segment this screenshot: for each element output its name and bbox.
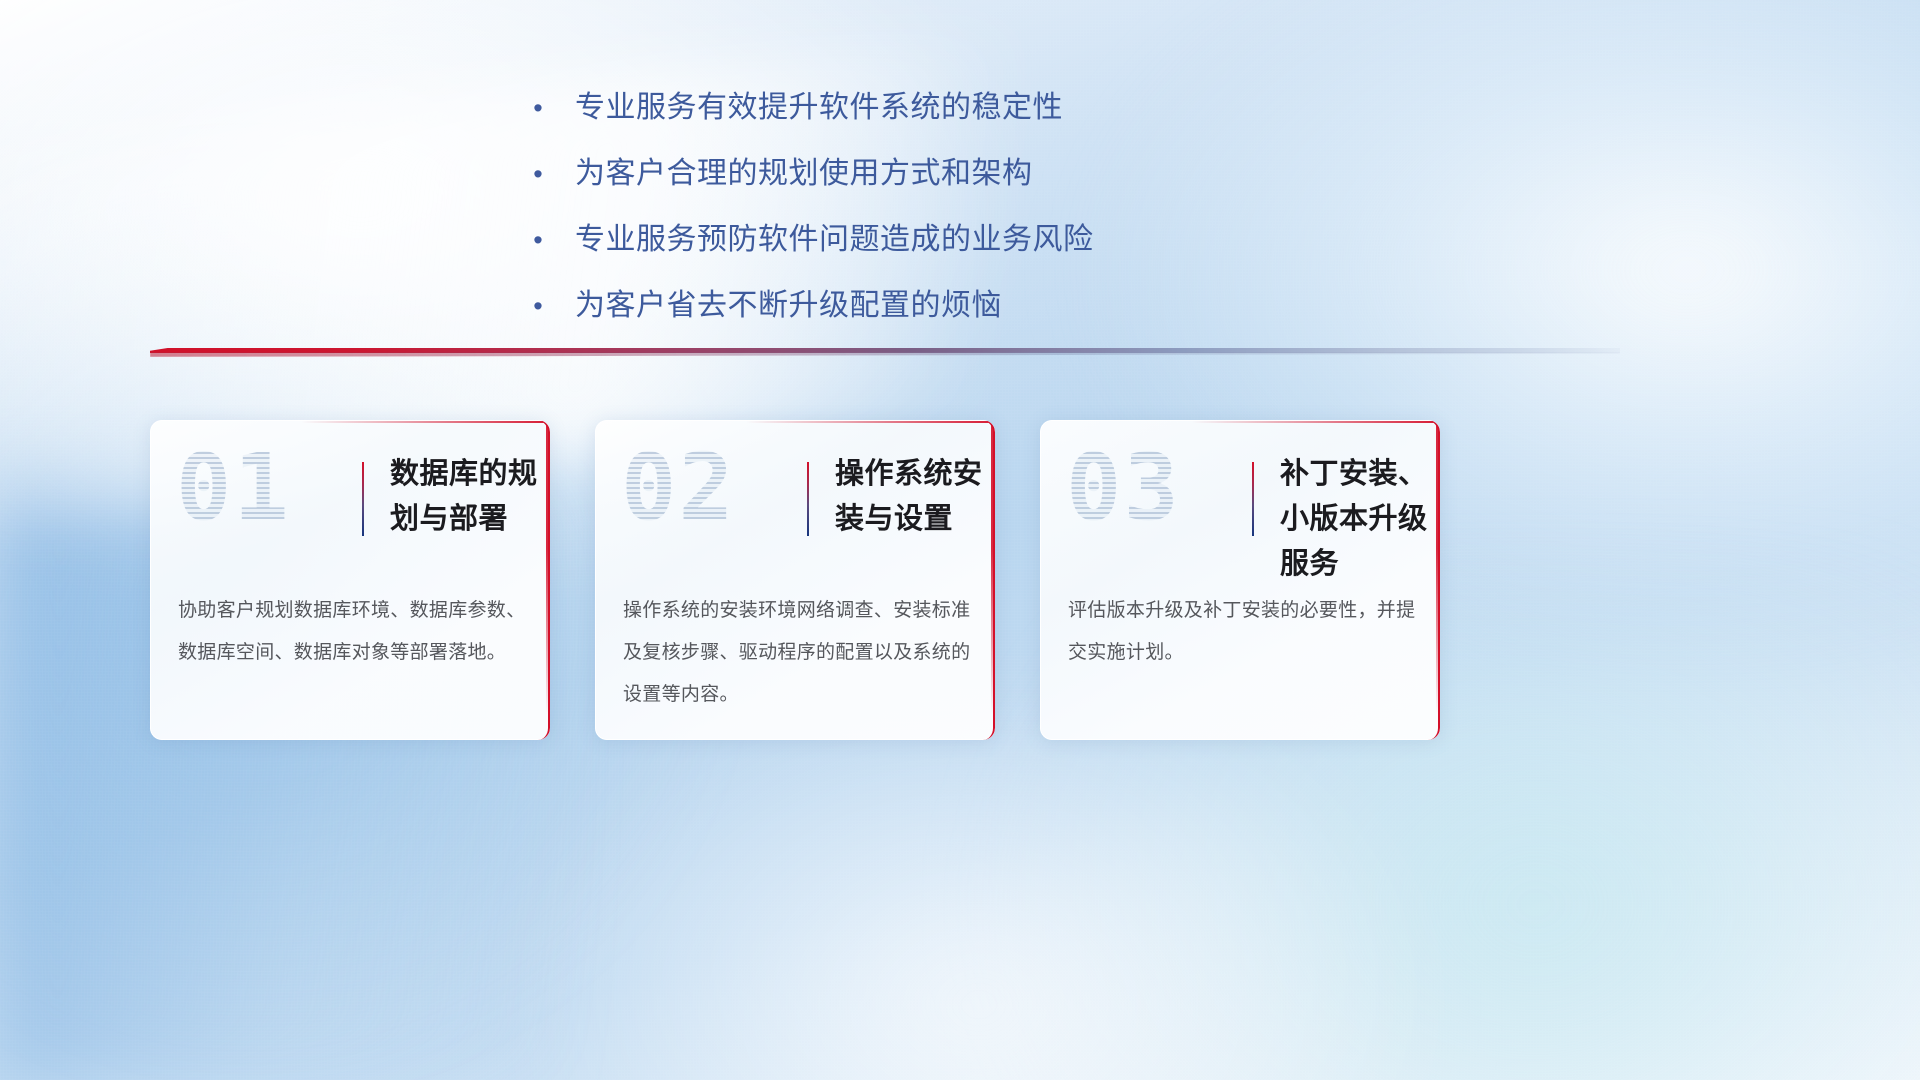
card-title: 操作系统安装与设置 (835, 452, 985, 542)
card-description: 操作系统的安装环境网络调查、安装标准及复核步骤、驱动程序的配置以及系统的设置等内… (623, 590, 971, 716)
list-item: • 为客户合理的规划使用方式和架构 (533, 152, 1293, 196)
card-title: 数据库的规划与部署 (390, 452, 540, 542)
list-item: • 专业服务有效提升软件系统的稳定性 (533, 86, 1293, 130)
card-number-watermark: 02 (621, 442, 736, 534)
bullet-text: 专业服务预防软件问题造成的业务风险 (575, 218, 1094, 262)
bullet-dot-icon: • (533, 218, 543, 262)
list-item: • 专业服务预防软件问题造成的业务风险 (533, 218, 1293, 262)
card-title-divider (807, 462, 809, 536)
service-card-group: 01 01 数据库的规划与部署 协助客户规划数据库环境、数据库参数、数据库空间、… (150, 420, 1620, 740)
card-header: 03 03 补丁安装、小版本升级服务 (1040, 420, 1440, 582)
bullet-text: 为客户合理的规划使用方式和架构 (575, 152, 1033, 196)
bullet-dot-icon: • (533, 86, 543, 130)
section-divider (150, 348, 1620, 360)
divider-shadow-line (150, 352, 1620, 357)
service-card[interactable]: 02 02 操作系统安装与设置 操作系统的安装环境网络调查、安装标准及复核步骤、… (595, 420, 995, 740)
card-title: 补丁安装、小版本升级服务 (1280, 452, 1430, 587)
card-header: 02 02 操作系统安装与设置 (595, 420, 995, 582)
list-item: • 为客户省去不断升级配置的烦恼 (533, 284, 1293, 328)
card-title-divider (1252, 462, 1254, 536)
bullet-text: 专业服务有效提升软件系统的稳定性 (575, 86, 1063, 130)
bullet-dot-icon: • (533, 152, 543, 196)
bullet-text: 为客户省去不断升级配置的烦恼 (575, 284, 1002, 328)
card-number-watermark: 01 (176, 442, 291, 534)
service-card[interactable]: 01 01 数据库的规划与部署 协助客户规划数据库环境、数据库参数、数据库空间、… (150, 420, 550, 740)
card-description: 协助客户规划数据库环境、数据库参数、数据库空间、数据库对象等部署落地。 (178, 590, 526, 674)
card-header: 01 01 数据库的规划与部署 (150, 420, 550, 582)
card-title-divider (362, 462, 364, 536)
service-card[interactable]: 03 03 补丁安装、小版本升级服务 评估版本升级及补丁安装的必要性，并提交实施… (1040, 420, 1440, 740)
bullet-dot-icon: • (533, 284, 543, 328)
card-description: 评估版本升级及补丁安装的必要性，并提交实施计划。 (1068, 590, 1416, 674)
card-number-watermark: 03 (1066, 442, 1181, 534)
benefits-bullet-list: • 专业服务有效提升软件系统的稳定性 • 为客户合理的规划使用方式和架构 • 专… (533, 86, 1293, 350)
